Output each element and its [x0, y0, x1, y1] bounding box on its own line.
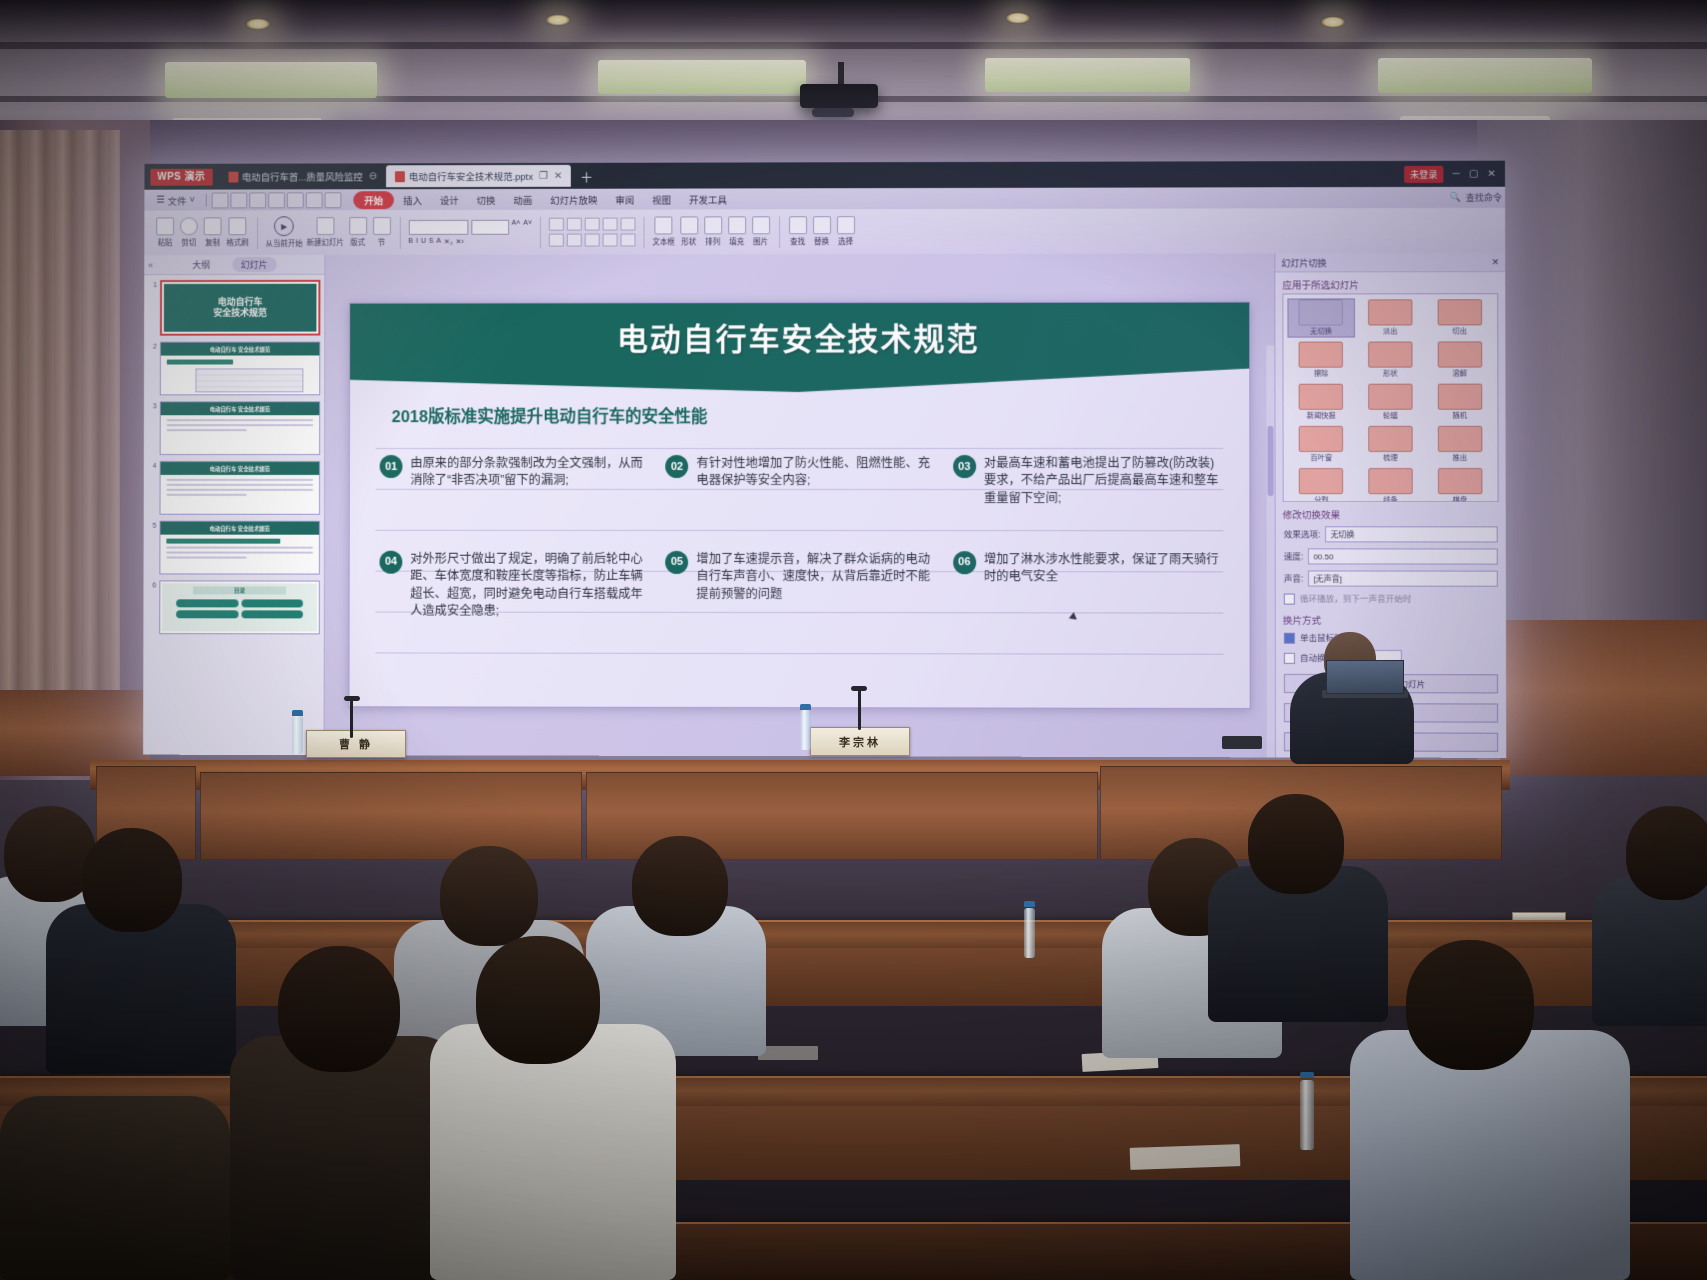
ribbon-group-clipboard: 粘贴 剪切 复制 格式刷 [150, 213, 253, 253]
ceiling-light-panel [165, 62, 377, 98]
advance-slide-section: 换片方式 [1276, 608, 1506, 629]
slide-thumbnail-pane[interactable]: « 大纲 幻灯片 1 电动自行车 安全技术规范 [143, 255, 325, 755]
bold-icon[interactable]: B [408, 237, 413, 245]
replace-label: 替换 [814, 236, 829, 247]
slide-point-06: 06 增加了淋水涉水性能要求，保证了雨天骑行时的电气安全 [953, 551, 1224, 621]
speed-label: 速度: [1284, 550, 1304, 562]
thumbnail-banner: 电动自行车 安全技术规范 [161, 462, 320, 475]
shape-icon [680, 216, 698, 234]
textbox-button[interactable]: 文本框 [652, 216, 674, 247]
thumbnail-banner: 电动自行车 安全技术规范 [160, 522, 319, 535]
transition-wheel-icon [1368, 384, 1412, 410]
slide-points-grid: 01 由原来的部分条款强制改为全文强制，从而消除了“非否决项”留下的漏洞; 02… [379, 455, 1223, 621]
layout-button[interactable]: 版式 [348, 217, 368, 248]
document-tab-label: 电动自行车首...质量风险监控 [242, 169, 363, 183]
slide-point-03: 03 对最高车速和蓄电池提出了防篡改(防改装)要求，不给产品出厂后提高最高车速和… [953, 455, 1224, 525]
ceiling-light-panel [985, 58, 1190, 92]
transition-label: 无切换 [1310, 327, 1332, 337]
italic-icon[interactable]: I [416, 237, 418, 245]
transition-newsflash[interactable]: 新闻快报 [1289, 384, 1354, 421]
document-tab-1[interactable]: 电动自行车首...质量风险监控 ⊖ [219, 165, 386, 187]
cut-label: 剪切 [181, 237, 196, 248]
new-slide-icon [316, 217, 334, 235]
cover-line-2: 安全技术规范 [213, 308, 267, 319]
align-center-icon[interactable] [567, 234, 582, 247]
thumbnail-number: 6 [147, 580, 156, 634]
audience-head [476, 936, 600, 1064]
select-icon [837, 216, 855, 234]
paste-label: 粘贴 [158, 237, 173, 248]
align-left-icon[interactable] [549, 234, 564, 247]
transition-label: 推出 [1453, 453, 1468, 463]
thumbnail-slide-4[interactable]: 4 电动自行车 安全技术规范 [148, 461, 320, 515]
audience-body [230, 1036, 460, 1280]
fill-button[interactable]: 填充 [727, 216, 747, 247]
font-name-select[interactable] [408, 219, 468, 234]
tab-animations[interactable]: 动画 [504, 190, 541, 208]
arrange-label: 排列 [705, 236, 720, 247]
tab-minimize-icon[interactable]: ⊖ [369, 171, 377, 182]
file-menu-label: 文件 [168, 193, 187, 207]
start-from-current-label: 从当前开始 [265, 238, 302, 249]
print-icon[interactable] [249, 192, 266, 208]
replace-button[interactable]: 替换 [812, 216, 832, 247]
transition-split-icon [1299, 468, 1343, 494]
transition-label: 淡出 [1383, 326, 1398, 336]
paste-button[interactable]: 粘贴 [155, 217, 175, 248]
thumbnail-toc-title: 目录 [193, 586, 286, 594]
tab-outline[interactable]: 大纲 [192, 258, 210, 271]
copy-label: 复制 [205, 237, 220, 248]
audience-head [278, 946, 400, 1072]
play-icon: ▶ [274, 216, 294, 236]
audience-head [1626, 806, 1707, 900]
cut-button[interactable]: 剪切 [179, 217, 199, 248]
water-bottle [292, 716, 303, 754]
start-from-current-button[interactable]: ▶ 从当前开始 [265, 216, 302, 249]
underline-icon[interactable]: U [421, 237, 426, 245]
transition-blinds-icon [1299, 426, 1343, 452]
tab-review[interactable]: 审阅 [606, 190, 643, 208]
head-table-left [200, 772, 582, 860]
undo-icon[interactable] [306, 192, 323, 208]
transition-blinds[interactable]: 百叶窗 [1289, 426, 1354, 463]
search-icon: 🔍 [1450, 192, 1461, 203]
transition-wheel[interactable]: 轮辐 [1358, 384, 1423, 421]
arrange-button[interactable]: 排列 [703, 216, 723, 247]
transition-wipe[interactable]: 擦除 [1288, 342, 1353, 379]
transition-lines[interactable]: 线条 [1358, 468, 1423, 502]
copy-button[interactable]: 复制 [203, 217, 223, 248]
shape-button[interactable]: 形状 [679, 216, 699, 247]
transition-checkerboard[interactable]: 棋盘 [1427, 468, 1492, 502]
thumbnail-number: 1 [148, 280, 157, 336]
transition-push-icon [1438, 426, 1482, 452]
tab-close-icon[interactable]: ✕ [554, 170, 562, 181]
ceiling-light-panel [1378, 58, 1592, 93]
transition-label: 棋盘 [1453, 495, 1468, 502]
redo-icon[interactable] [325, 192, 342, 208]
line-spacing-icon[interactable] [621, 218, 636, 231]
paste-icon [156, 217, 174, 235]
handout-paper [1130, 1144, 1241, 1170]
thumbnail-preview[interactable]: 电动自行车 安全技术规范 [160, 342, 321, 396]
section-label: 节 [378, 237, 385, 248]
slide-subtitle: 2018版标准实施提升电动自行车的安全性能 [392, 403, 708, 427]
document-tab-label: 电动自行车安全技术规范.pptx [409, 169, 533, 183]
transition-newsflash-icon [1299, 384, 1343, 410]
divider [779, 216, 780, 248]
transition-fade-icon [1368, 299, 1412, 325]
clear-format-icon[interactable]: ✕² [456, 237, 464, 245]
justify-icon[interactable] [603, 234, 618, 247]
section-button[interactable]: 节 [372, 217, 392, 248]
document-tab-2[interactable]: 电动自行车安全技术规范.pptx ❐ ✕ [386, 165, 571, 187]
transition-checkerboard-icon [1438, 468, 1482, 494]
picture-icon [752, 216, 770, 234]
grow-font-icon[interactable]: A˄ [512, 219, 521, 234]
format-painter-button[interactable]: 格式刷 [226, 217, 248, 248]
transition-label: 擦除 [1314, 369, 1329, 379]
ribbon-group-paragraph [544, 212, 641, 252]
projector-mount [838, 62, 844, 84]
thumbnail-banner: 电动自行车 安全技术规范 [161, 343, 319, 356]
tab-home[interactable]: 开始 [353, 191, 394, 209]
sound-row[interactable]: 声音: [无声音] [1276, 567, 1506, 589]
auto-advance-checkbox[interactable] [1284, 652, 1295, 663]
thumbnail-slide-3[interactable]: 3 电动自行车 安全技术规范 [148, 401, 320, 455]
thumbnail-slide-1[interactable]: 1 电动自行车 安全技术规范 [148, 280, 320, 336]
cut-icon [180, 217, 198, 235]
transition-label: 轮辐 [1383, 411, 1398, 421]
loop-sound-checkbox[interactable] [1284, 593, 1295, 604]
slide-canvas-area[interactable]: 电动自行车安全技术规范 2018版标准实施提升电动自行车的安全性能 01 由原来… [325, 253, 1275, 757]
transition-label: 新闻快报 [1307, 411, 1336, 421]
replace-icon [813, 216, 831, 234]
projected-wps-presentation-screen[interactable]: WPS 演示 电动自行车首...质量风险监控 ⊖ 电动自行车安全技术规范.ppt… [143, 161, 1506, 758]
transition-comb[interactable]: 梳理 [1358, 426, 1423, 463]
print-preview-icon[interactable] [268, 192, 285, 208]
transition-dissolve[interactable]: 溶解 [1427, 341, 1492, 378]
thumbnail-preview[interactable]: 电动自行车 安全技术规范 [159, 521, 320, 575]
align-right-icon[interactable] [585, 234, 600, 247]
thumbnail-preview[interactable]: 目录 [159, 580, 320, 634]
ceiling-beam [0, 42, 1707, 49]
thumbnail-slide-6[interactable]: 6 目录 [147, 580, 320, 634]
task-pane-title: 幻灯片切换 [1281, 256, 1326, 269]
pptx-file-icon [395, 171, 405, 182]
transition-none[interactable]: 无切换 [1288, 299, 1353, 336]
current-slide[interactable]: 电动自行车安全技术规范 2018版标准实施提升电动自行车的安全性能 01 由原来… [348, 302, 1250, 710]
thumbnail-text-lines [166, 547, 313, 562]
audience-body [1592, 876, 1707, 1026]
minimize-icon[interactable]: ─ [1453, 168, 1460, 179]
transition-cut[interactable]: 切出 [1427, 299, 1492, 336]
ribbon-group-drawing: 文本框 形状 排列 填充 图片 [647, 212, 775, 252]
downlight [1320, 16, 1346, 28]
divider [399, 217, 400, 249]
wall-upper-band [120, 120, 1590, 166]
section-icon [373, 217, 391, 235]
transition-label: 随机 [1452, 411, 1467, 421]
thumbnail-pane-header: « 大纲 幻灯片 [144, 255, 324, 275]
picture-button[interactable]: 图片 [751, 216, 771, 247]
effect-option-label: 效果选项: [1284, 528, 1321, 540]
window-titlebar: WPS 演示 电动自行车首...质量风险监控 ⊖ 电动自行车安全技术规范.ppt… [144, 161, 1505, 190]
task-pane-header: 幻灯片切换 ✕ [1275, 253, 1505, 272]
on-click-row[interactable]: 单击鼠标时 [1276, 629, 1506, 647]
thumbnail-text-lines [167, 419, 314, 434]
transition-effects-grid[interactable]: 无切换 淡出 切出 擦除 [1282, 293, 1498, 502]
find-icon[interactable] [287, 192, 304, 208]
fill-label: 填充 [729, 236, 744, 247]
loop-sound-label: 循环播放，到下一声音开始时 [1300, 593, 1412, 605]
find-label: 查找 [790, 236, 805, 247]
effect-option-row[interactable]: 效果选项: 无切换 [1276, 523, 1506, 545]
wall-wood-trim [1500, 620, 1707, 776]
search-placeholder: 查找命令 [1466, 191, 1502, 204]
sound-select[interactable]: [无声音] [1308, 570, 1497, 586]
slide-point-04: 04 对外形尺寸做出了规定，明确了前后轮中心距、车体宽度和鞍座长度等指标，防止车… [379, 551, 647, 621]
transition-cut-icon [1437, 299, 1481, 325]
pptx-file-icon [228, 171, 238, 182]
distribute-icon[interactable] [621, 234, 636, 247]
ribbon-group-font: A˄ A˅ B I U S A ✕₂ ✕² [403, 212, 537, 252]
handout-paper [758, 1046, 818, 1060]
decrease-indent-icon[interactable] [585, 218, 600, 231]
projector-lens [812, 108, 854, 117]
point-text: 对外形尺寸做出了规定，明确了前后轮中心距、车体宽度和鞍座长度等指标，防止车辆超长… [410, 551, 647, 621]
point-number: 03 [953, 455, 976, 478]
command-search[interactable]: 🔍 查找命令 [1450, 191, 1506, 204]
slide-title: 电动自行车安全技术规范 [617, 314, 980, 359]
transition-wipe-icon [1299, 342, 1343, 368]
select-label: 选择 [838, 236, 853, 247]
scrollbar-thumb[interactable] [1267, 426, 1273, 496]
microphone-stand [858, 690, 861, 730]
tab-design[interactable]: 设计 [431, 191, 468, 209]
tab-insert[interactable]: 插入 [394, 191, 431, 209]
transition-label: 百叶窗 [1310, 453, 1332, 463]
audience-head [1406, 940, 1534, 1070]
open-icon[interactable] [212, 192, 229, 208]
customize-icon[interactable] [343, 193, 352, 207]
transition-label: 形状 [1383, 369, 1398, 379]
lecture-hall-photo: WPS 演示 电动自行车首...质量风险监控 ⊖ 电动自行车安全技术规范.ppt… [0, 0, 1707, 1280]
thumbnail-number: 5 [147, 521, 156, 575]
water-bottle [800, 710, 811, 750]
transition-label: 线条 [1383, 495, 1398, 502]
curtain [0, 130, 120, 770]
thumbnail-slide-2[interactable]: 2 电动自行车 安全技术规范 [148, 342, 320, 396]
file-menu-button[interactable]: ☰ 文件 ˅ [149, 193, 202, 207]
ribbon-group-editing: 查找 替换 选择 [783, 212, 861, 252]
thumbnail-banner: 电动自行车 安全技术规范 [161, 402, 319, 415]
thumbnail-number: 3 [148, 401, 157, 455]
on-click-checkbox[interactable] [1284, 632, 1295, 643]
bottle-cap [292, 710, 303, 716]
audience-bottle [1024, 908, 1035, 958]
speed-row[interactable]: 速度: 00.50 [1276, 545, 1506, 567]
thumbnail-list[interactable]: 1 电动自行车 安全技术规范 2 电动自行车 安全技术规范 [143, 275, 324, 755]
format-painter-label: 格式刷 [226, 237, 248, 248]
font-size-select[interactable] [471, 219, 509, 234]
new-slide-button[interactable]: 新建幻灯片 [307, 217, 344, 248]
thumbnail-text-lines [166, 479, 313, 499]
transition-comb-icon [1368, 426, 1412, 452]
new-slide-label: 新建幻灯片 [307, 237, 344, 248]
ribbon-toolbar: 粘贴 剪切 复制 格式刷 ▶ 从当前开始 [144, 208, 1506, 255]
ribbon-group-slides: ▶ 从当前开始 新建幻灯片 版式 节 [261, 213, 397, 253]
point-text: 有针对性地增加了防火性能、阻燃性能、充电器保护等安全内容; [696, 455, 934, 490]
bottle-cap [1300, 1072, 1314, 1078]
chevron-down-icon: ˅ [189, 195, 195, 206]
tab-restore-icon[interactable]: ❐ [539, 170, 548, 181]
transition-label: 分割 [1314, 495, 1329, 502]
point-number: 01 [380, 455, 403, 478]
close-icon[interactable]: ✕ [1491, 257, 1499, 268]
thumbnail-toc: 目录 [162, 583, 317, 631]
point-text: 增加了车速提示音，解决了群众诟病的电动自行车声音小、速度快，从背后靠近时不能提前… [696, 551, 934, 604]
transition-label: 梳理 [1383, 453, 1398, 463]
point-text: 由原来的部分条款强制改为全文强制，从而消除了“非否决项”留下的漏洞; [410, 455, 647, 490]
bullet-list-icon[interactable] [549, 218, 564, 231]
thumbnail-preview[interactable]: 电动自行车 安全技术规范 [160, 461, 321, 515]
tab-slides[interactable]: 幻灯片 [232, 257, 277, 272]
layout-icon [349, 217, 367, 235]
slide-point-02: 02 有针对性地增加了防火性能、阻燃性能、充电器保护等安全内容; [666, 455, 935, 525]
tab-developer[interactable]: 开发工具 [680, 190, 736, 208]
point-number: 06 [953, 551, 976, 574]
divider [257, 217, 258, 249]
audience-head [632, 836, 728, 936]
laptop-screen [1326, 660, 1404, 694]
effect-option-select[interactable]: 无切换 [1325, 526, 1497, 542]
shrink-font-icon[interactable]: A˅ [523, 219, 532, 234]
tab-slideshow[interactable]: 幻灯片放映 [541, 190, 606, 208]
transition-dissolve-icon [1437, 341, 1481, 367]
transition-lines-icon [1368, 468, 1412, 494]
thumbnail-preview[interactable]: 电动自行车 安全技术规范 [160, 280, 321, 336]
tab-view[interactable]: 视图 [643, 190, 680, 208]
picture-label: 图片 [753, 236, 768, 247]
transition-fade[interactable]: 淡出 [1358, 299, 1423, 336]
downlight [245, 18, 271, 30]
collapse-icon[interactable]: « [148, 260, 153, 270]
transition-random-icon [1437, 384, 1481, 410]
thumbnail-number: 2 [148, 342, 157, 396]
menu-bar: ☰ 文件 ˅ 开始 插入 设计 切换 动画 幻灯片放映 审阅 视图 开发工具 🔍 [144, 187, 1506, 211]
bottle-cap [1024, 901, 1035, 907]
layout-label: 版式 [350, 237, 365, 248]
point-number: 05 [665, 551, 688, 574]
audience-head [1248, 794, 1344, 894]
thumbnail-chip [166, 539, 280, 544]
thumbnail-table [196, 368, 304, 392]
slide-title-banner: 电动自行车安全技术规范 [350, 303, 1249, 393]
thumbnail-chip [167, 360, 233, 365]
audience-head [440, 846, 538, 946]
textbox-icon [655, 216, 673, 234]
copy-icon [204, 217, 222, 235]
slide-point-05: 05 增加了车速提示音，解决了群众诟病的电动自行车声音小、速度快，从背后靠近时不… [665, 551, 934, 621]
microphone-head [851, 686, 867, 691]
loop-sound-row[interactable]: 循环播放，到下一声音开始时 [1276, 590, 1506, 608]
transition-label: 切出 [1452, 326, 1467, 336]
find-button[interactable]: 查找 [788, 216, 808, 247]
transition-split[interactable]: 分割 [1289, 468, 1354, 502]
transition-none-icon [1299, 299, 1343, 325]
canvas-scrollbar[interactable] [1266, 346, 1275, 758]
save-icon[interactable] [231, 192, 248, 208]
sound-label: 声音: [1284, 572, 1304, 584]
apply-to-selected-label: 应用于所选幻灯片 [1275, 272, 1505, 293]
thumbnail-preview[interactable]: 电动自行车 安全技术规范 [160, 401, 321, 455]
slide-point-01: 01 由原来的部分条款强制改为全文强制，从而消除了“非否决项”留下的漏洞; [380, 455, 648, 525]
maximize-icon[interactable]: ▢ [1469, 168, 1479, 179]
close-icon[interactable]: ✕ [1487, 168, 1495, 179]
downlight [545, 14, 571, 26]
thumbnail-number: 4 [148, 461, 157, 515]
divider [643, 216, 644, 248]
login-status-button[interactable]: 未登录 [1404, 165, 1443, 182]
window-right-controls: 未登录 ─ ▢ ✕ [1404, 165, 1505, 182]
wps-logo: WPS 演示 [150, 168, 212, 185]
find-icon [789, 216, 807, 234]
arrange-icon [704, 216, 722, 234]
bottle-cap [800, 704, 811, 710]
increase-indent-icon[interactable] [603, 218, 618, 231]
audience-bottle [1300, 1080, 1314, 1150]
audience-body [0, 1096, 230, 1280]
transition-random[interactable]: 随机 [1427, 384, 1492, 421]
ceiling-light-panel [598, 60, 806, 94]
thumbnail-slide-5[interactable]: 5 电动自行车 安全技术规范 [147, 521, 319, 575]
audience-head [82, 828, 182, 932]
microphone-head [344, 696, 360, 701]
nameplate-li-zonglin: 李宗林 [810, 727, 910, 756]
thumbnail-toc-grid [176, 599, 303, 618]
new-tab-button[interactable]: ＋ [571, 166, 602, 185]
numbered-list-icon[interactable] [567, 218, 582, 231]
transition-push[interactable]: 推出 [1427, 426, 1492, 463]
transition-shape[interactable]: 形状 [1358, 341, 1423, 378]
hamburger-icon: ☰ [156, 195, 164, 206]
transition-shape-icon [1368, 341, 1412, 367]
microphone-stand [350, 700, 353, 738]
strikethrough-icon[interactable]: S [429, 237, 434, 245]
point-text: 对最高车速和蓄电池提出了防篡改(防改装)要求，不给产品出厂后提高最高车速和整车重… [984, 455, 1223, 508]
point-number: 02 [666, 455, 689, 478]
char-spacing-icon[interactable]: ✕₂ [444, 237, 453, 245]
fill-icon [728, 216, 746, 234]
divider [540, 216, 541, 248]
text-shadow-icon[interactable]: A [436, 237, 441, 245]
tab-transitions[interactable]: 切换 [468, 190, 505, 208]
transition-label: 溶解 [1452, 369, 1467, 379]
format-painter-icon [229, 217, 247, 235]
textbox-label: 文本框 [652, 236, 674, 247]
point-text: 增加了淋水涉水性能要求，保证了雨天骑行时的电气安全 [984, 551, 1223, 586]
speed-input[interactable]: 00.50 [1308, 548, 1497, 564]
modify-transition-section: 修改切换效果 [1276, 502, 1506, 523]
select-button[interactable]: 选择 [836, 216, 856, 247]
shape-label: 形状 [681, 236, 696, 247]
presenter-equipment [1222, 736, 1262, 749]
divider [206, 194, 207, 207]
cover-line-1: 电动自行车 [218, 297, 263, 308]
downlight [1005, 12, 1031, 24]
